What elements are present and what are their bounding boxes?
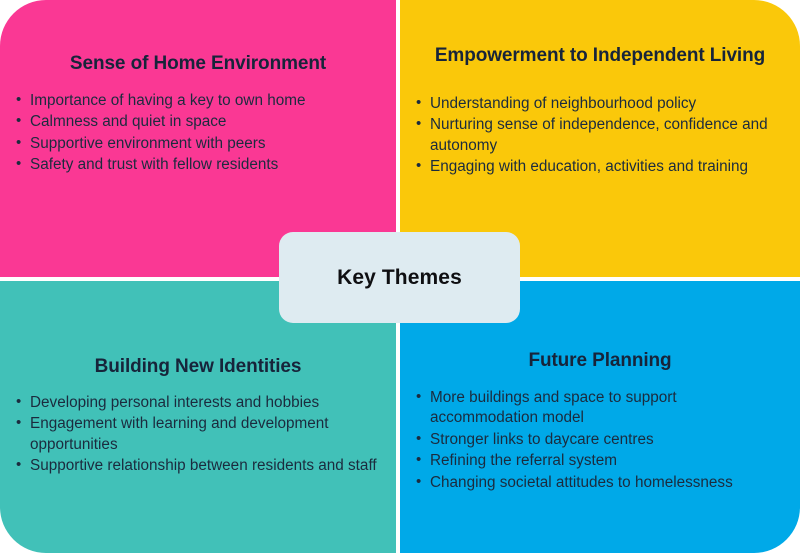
list-item: Developing personal interests and hobbie… <box>16 393 384 413</box>
list-item: Nurturing sense of independence, confide… <box>416 115 788 156</box>
list-item: Refining the referral system <box>416 451 788 471</box>
quadrant-title: Sense of Home Environment <box>12 54 384 75</box>
quadrant-bullet-list: Importance of having a key to own home C… <box>12 91 384 176</box>
quadrant-title: Empowerment to Independent Living <box>412 46 788 67</box>
list-item: More buildings and space to support acco… <box>416 388 788 429</box>
key-themes-quadrant-diagram: Sense of Home Environment Importance of … <box>0 0 800 553</box>
list-item: Importance of having a key to own home <box>16 91 384 111</box>
quadrant-bullet-list: Developing personal interests and hobbie… <box>12 393 384 477</box>
list-item: Changing societal attitudes to homelessn… <box>416 473 788 493</box>
list-item: Understanding of neighbourhood policy <box>416 94 788 114</box>
list-item: Calmness and quiet in space <box>16 112 384 132</box>
list-item: Engagement with learning and development… <box>16 414 384 455</box>
quadrant-bullet-list: Understanding of neighbourhood policy Nu… <box>412 94 788 178</box>
list-item: Safety and trust with fellow residents <box>16 155 384 175</box>
list-item: Supportive relationship between resident… <box>16 456 384 476</box>
list-item: Engaging with education, activities and … <box>416 157 788 177</box>
center-label: Key Themes <box>337 266 462 290</box>
center-key-themes-box: Key Themes <box>279 232 520 323</box>
quadrant-bullet-list: More buildings and space to support acco… <box>412 388 788 493</box>
quadrant-title: Future Planning <box>412 351 788 372</box>
list-item: Stronger links to daycare centres <box>416 430 788 450</box>
quadrant-title: Building New Identities <box>12 357 384 378</box>
list-item: Supportive environment with peers <box>16 134 384 154</box>
